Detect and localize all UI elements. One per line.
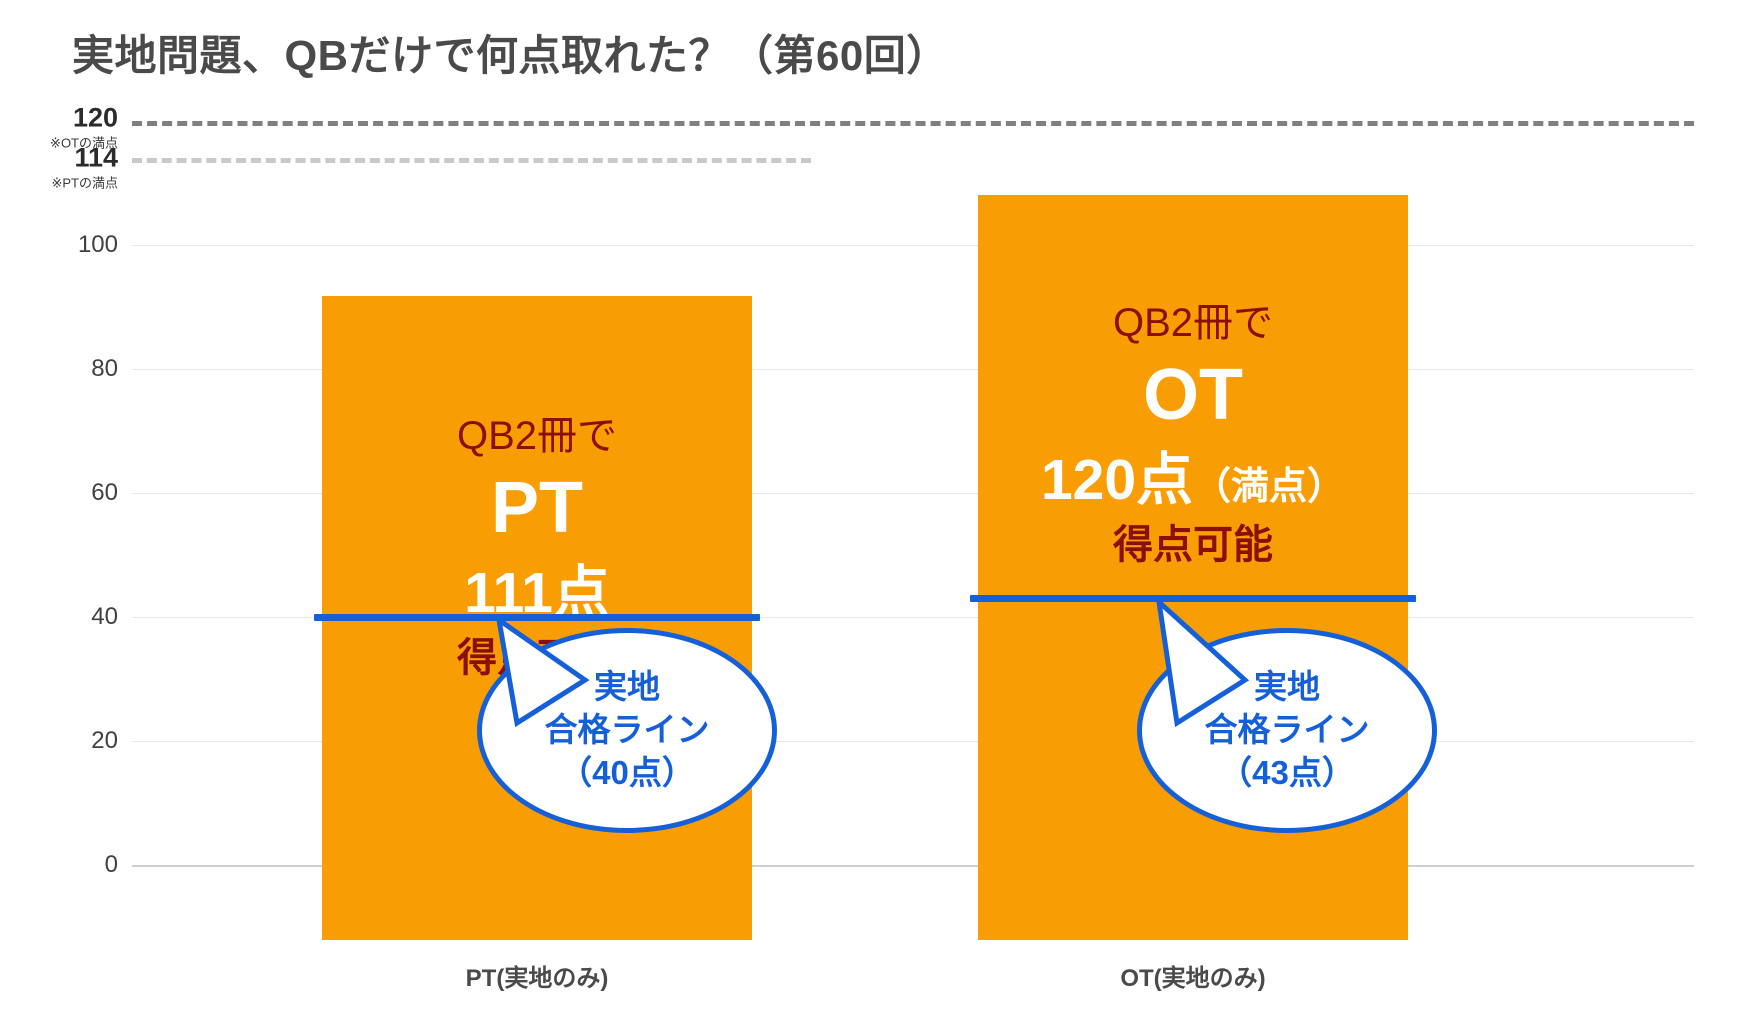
callout-pt[interactable]: 実地 合格ライン （40点） bbox=[477, 628, 777, 833]
callout-ot-line3: （43点） bbox=[1219, 752, 1355, 795]
ytick-120: 120 bbox=[73, 103, 118, 134]
bar-ot-score-value: 120点 bbox=[1041, 448, 1193, 512]
ytick-114: 114 bbox=[74, 143, 118, 174]
chart-canvas: 実地問題、QBだけで何点取れた？（第60回） 100 80 60 40 20 0… bbox=[0, 0, 1762, 1016]
plot-area: 100 80 60 40 20 0 120 ※OTの満点 114 ※PTの満点 … bbox=[132, 120, 1694, 940]
passline-pt bbox=[314, 614, 760, 621]
callout-pt-text: 実地 合格ライン （40点） bbox=[477, 628, 777, 833]
callout-ot-line1: 実地 bbox=[1254, 666, 1320, 709]
bar-pt-code-label: PT bbox=[322, 469, 752, 548]
bar-ot-score-suffix: （満点） bbox=[1193, 466, 1345, 508]
bar-pt-qb-label: QB2冊で bbox=[322, 414, 752, 459]
refline-ot-max bbox=[132, 121, 1694, 126]
callout-pt-line3: （40点） bbox=[559, 752, 695, 795]
ytick-60: 60 bbox=[91, 479, 118, 507]
gridline-100 bbox=[132, 245, 1694, 246]
ytick-40: 40 bbox=[91, 603, 118, 631]
ytick-100: 100 bbox=[78, 231, 118, 259]
callout-pt-line2: 合格ライン bbox=[545, 709, 710, 752]
ytick-80: 80 bbox=[91, 355, 118, 383]
refline-pt-max bbox=[132, 158, 811, 163]
bar-ot-code-label: OT bbox=[978, 356, 1408, 435]
ytick-20: 20 bbox=[91, 727, 118, 755]
bar-ot-qb-label: QB2冊で bbox=[978, 301, 1408, 346]
passline-ot bbox=[970, 595, 1416, 602]
ytick-114-note: ※PTの満点 bbox=[51, 173, 118, 192]
xtick-ot: OT(実地のみ) bbox=[1120, 958, 1265, 993]
bar-ot-possible-label: 得点可能 bbox=[978, 523, 1408, 568]
callout-pt-line1: 実地 bbox=[594, 666, 660, 709]
callout-ot-text: 実地 合格ライン （43点） bbox=[1137, 628, 1437, 833]
xtick-pt: PT(実地のみ) bbox=[466, 958, 609, 993]
chart-title: 実地問題、QBだけで何点取れた？（第60回） bbox=[72, 22, 949, 83]
callout-ot[interactable]: 実地 合格ライン （43点） bbox=[1137, 628, 1437, 833]
ytick-0: 0 bbox=[105, 851, 118, 879]
bar-ot-score-label: 120点（満点） bbox=[978, 449, 1408, 513]
callout-ot-line2: 合格ライン bbox=[1205, 709, 1370, 752]
